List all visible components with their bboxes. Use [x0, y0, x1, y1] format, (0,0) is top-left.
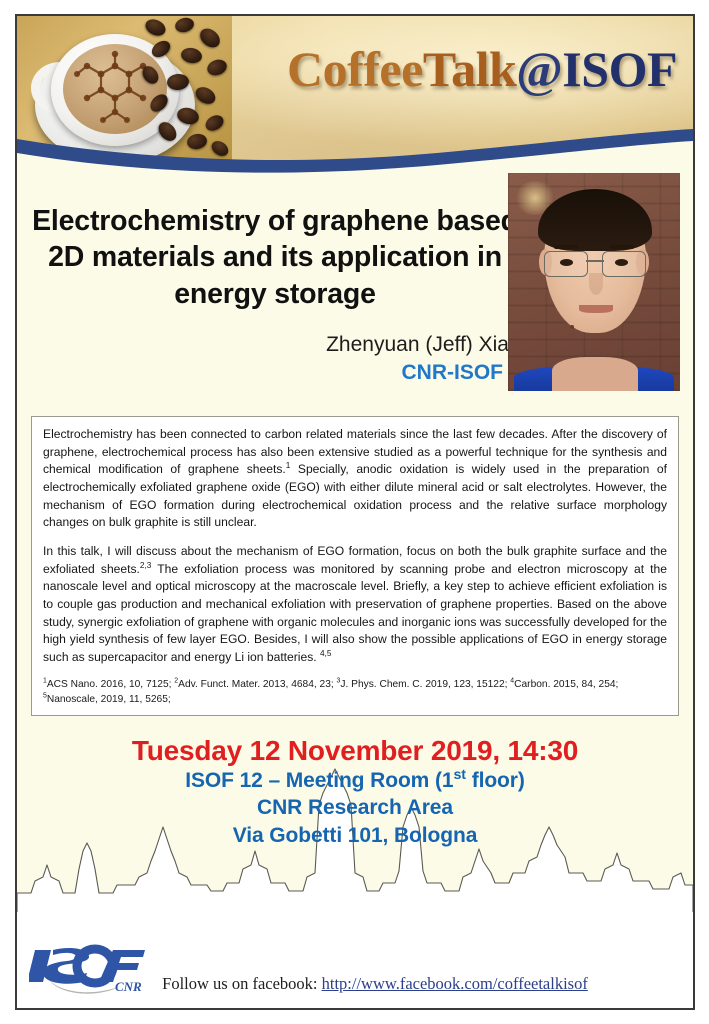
eye-right-shape [615, 259, 628, 266]
facebook-follow-label: Follow us on facebook: [162, 974, 321, 993]
references-list: 1ACS Nano. 2016, 10, 7125; 2Adv. Funct. … [43, 677, 667, 708]
reference-1-text: ACS Nano. 2016, 10, 7125; [47, 679, 174, 690]
brand-at-symbol: @ [516, 41, 562, 97]
event-details-area: Tuesday 12 November 2019, 14:30 ISOF 12 … [17, 730, 693, 940]
collar-shape [570, 359, 618, 381]
header-banner: CoffeeTalk@ISOF [17, 16, 693, 173]
event-text-block: Tuesday 12 November 2019, 14:30 ISOF 12 … [17, 730, 693, 849]
nose-shape [589, 273, 603, 295]
abstract-paragraph-1: Electrochemistry has been connected to c… [43, 426, 667, 532]
mole-shape [570, 325, 574, 329]
event-venue: ISOF 12 – Meeting Room (1st floor) [17, 767, 693, 794]
speaker-name: Zhenyuan (Jeff) Xia [29, 331, 521, 359]
event-research-area: CNR Research Area [17, 794, 693, 821]
footer-inner: CNR Follow us on facebook: http://www.fa… [17, 912, 693, 1008]
event-venue-suffix: floor) [466, 769, 525, 792]
facebook-page-link[interactable]: http://www.facebook.com/coffeetalkisof [322, 974, 588, 993]
speaker-affiliation: CNR-ISOF [29, 359, 521, 387]
brand-isof-text: ISOF [562, 41, 677, 97]
reference-4-text: Carbon. 2015, 84, 254; [514, 679, 618, 690]
headline-row: Electrochemistry of graphene based 2D ma… [17, 173, 693, 416]
poster-footer: CNR Follow us on facebook: http://www.fa… [17, 912, 693, 1008]
brand-talk-text: Talk [423, 41, 516, 97]
glasses-bridge-shape [586, 260, 604, 262]
reference-2-text: Adv. Funct. Mater. 2013, 4684, 23; [178, 679, 336, 690]
reference-3-text: J. Phys. Chem. C. 2019, 123, 15122; [340, 679, 510, 690]
abstract-box: Electrochemistry has been connected to c… [31, 416, 679, 716]
facebook-follow-line: Follow us on facebook: http://www.facebo… [17, 974, 693, 994]
brand-title: CoffeeTalk@ISOF [287, 44, 677, 94]
mouth-shape [579, 305, 613, 313]
wave-divider [17, 129, 693, 173]
eye-left-shape [560, 259, 573, 266]
eyebrow-right-shape [610, 245, 634, 249]
eyebrow-left-shape [554, 245, 578, 249]
eyeglasses-icon [542, 251, 648, 275]
event-venue-prefix: ISOF 12 – Meeting Room (1 [185, 769, 453, 792]
seminar-poster: CoffeeTalk@ISOF Electrochemistry of grap… [0, 0, 709, 1024]
abstract-paragraph-2: In this talk, I will discuss about the m… [43, 543, 667, 667]
reference-5-text: Nanoscale, 2019, 11, 5265; [47, 694, 171, 705]
abstract-p2-continued: The exfoliation process was monitored by… [43, 562, 667, 664]
poster-body: Electrochemistry of graphene based 2D ma… [17, 173, 693, 1008]
abstract-p2-reference-marker-2: 4,5 [320, 649, 331, 658]
event-address: Via Gobetti 101, Bologna [17, 822, 693, 849]
event-venue-ordinal-suffix: st [453, 767, 466, 783]
brand-coffee-text: Coffee [287, 41, 423, 97]
speaker-portrait-photo [508, 173, 680, 391]
abstract-p2-reference-marker: 2,3 [140, 561, 151, 570]
poster-frame: CoffeeTalk@ISOF Electrochemistry of grap… [15, 14, 695, 1010]
event-date: Tuesday 12 November 2019, 14:30 [17, 734, 693, 767]
talk-title: Electrochemistry of graphene based 2D ma… [29, 203, 521, 312]
